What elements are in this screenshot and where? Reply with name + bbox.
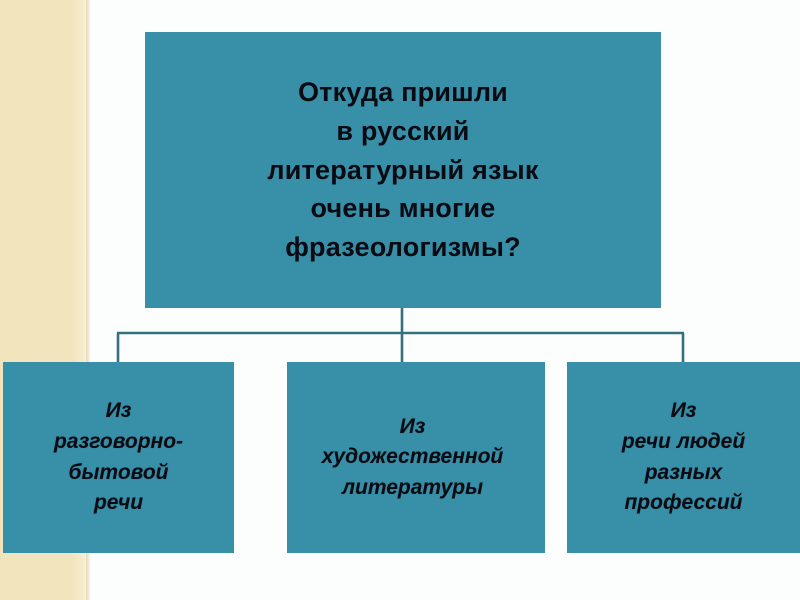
- node-source-fiction-label: Из художественной литературы: [280, 412, 545, 504]
- node-root-question: Откуда пришли в русский литературный язы…: [145, 32, 661, 308]
- node-source-fiction: Из художественной литературы: [287, 362, 545, 553]
- slide-canvas: Откуда пришли в русский литературный язы…: [0, 0, 800, 600]
- node-root-question-label: Откуда пришли в русский литературный язы…: [257, 73, 548, 267]
- node-source-colloquial-label: Из разговорно- бытовой речи: [54, 396, 183, 519]
- node-source-professions-label: Из речи людей разных профессий: [622, 396, 745, 519]
- node-source-professions: Из речи людей разных профессий: [567, 362, 800, 553]
- node-source-colloquial: Из разговорно- бытовой речи: [3, 362, 234, 553]
